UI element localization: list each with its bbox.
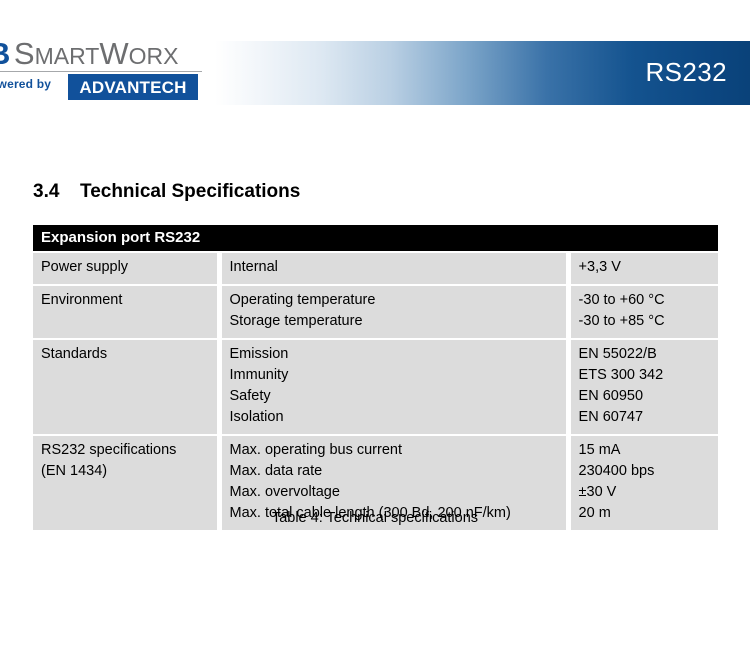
cell-line: ±30 V — [579, 482, 712, 503]
cell-line: Max. data rate — [230, 461, 560, 482]
cell-value: +3,3 V — [571, 251, 718, 284]
header-title: RS232 — [646, 59, 728, 85]
table-body: Power supplyInternal+3,3 VEnvironmentOpe… — [33, 251, 718, 530]
brand-smartworx-text: SMARTWORX — [14, 36, 179, 71]
cell-description: Operating temperatureStorage temperature — [222, 284, 571, 338]
cell-line: Environment — [41, 290, 211, 311]
cell-line: (EN 1434) — [41, 461, 211, 482]
brand-bb-text: B — [0, 36, 10, 71]
cell-line: EN 60950 — [579, 386, 712, 407]
advantech-logo-badge: ADVANTECH — [68, 74, 198, 100]
table-head: Expansion port RS232 — [33, 225, 718, 251]
cell-lines: Power supply — [41, 257, 211, 278]
cell-lines: Internal — [230, 257, 560, 278]
section-title: Technical Specifications — [80, 181, 300, 202]
table-header-title: Expansion port RS232 — [33, 225, 718, 251]
cell-line: EN 55022/B — [579, 344, 712, 365]
cell-line: Immunity — [230, 365, 560, 386]
cell-line: 15 mA — [579, 440, 712, 461]
cell-lines: Standards — [41, 344, 211, 365]
technical-specifications-table: Expansion port RS232 Power supplyInterna… — [33, 225, 718, 530]
brand-wordmark: BSMARTWORX — [0, 38, 178, 69]
brand-logo: BSMARTWORX owered by ADVANTECH — [0, 38, 214, 100]
cell-value: EN 55022/BETS 300 342EN 60950EN 60747 — [571, 338, 718, 434]
table-row: StandardsEmissionImmunitySafetyIsolation… — [33, 338, 718, 434]
advantech-logo-text: ADVANTECH — [79, 79, 186, 96]
cell-parameter: Standards — [33, 338, 222, 434]
cell-lines: Operating temperatureStorage temperature — [230, 290, 560, 332]
brand-divider-rule — [0, 71, 202, 72]
cell-line: ETS 300 342 — [579, 365, 712, 386]
cell-lines: EmissionImmunitySafetyIsolation — [230, 344, 560, 428]
cell-lines: RS232 specifications(EN 1434) — [41, 440, 211, 482]
cell-description: Internal — [222, 251, 571, 284]
cell-line: Emission — [230, 344, 560, 365]
table-header-row: Expansion port RS232 — [33, 225, 718, 251]
cell-line: Operating temperature — [230, 290, 560, 311]
cell-parameter: Environment — [33, 284, 222, 338]
cell-line: Power supply — [41, 257, 211, 278]
cell-line: Safety — [230, 386, 560, 407]
cell-lines: +3,3 V — [579, 257, 712, 278]
cell-line: -30 to +85 °C — [579, 311, 712, 332]
cell-line: Max. operating bus current — [230, 440, 560, 461]
section-number: 3.4 — [33, 182, 80, 201]
cell-line: Isolation — [230, 407, 560, 428]
cell-value: -30 to +60 °C-30 to +85 °C — [571, 284, 718, 338]
cell-line: 230400 bps — [579, 461, 712, 482]
cell-line: EN 60747 — [579, 407, 712, 428]
cell-line: -30 to +60 °C — [579, 290, 712, 311]
table-row: EnvironmentOperating temperatureStorage … — [33, 284, 718, 338]
cell-line: Standards — [41, 344, 211, 365]
cell-lines: Environment — [41, 290, 211, 311]
cell-line: Internal — [230, 257, 560, 278]
table-row: Power supplyInternal+3,3 V — [33, 251, 718, 284]
cell-lines: EN 55022/BETS 300 342EN 60950EN 60747 — [579, 344, 712, 428]
cell-line: +3,3 V — [579, 257, 712, 278]
page-header: BSMARTWORX owered by ADVANTECH RS232 — [0, 0, 750, 120]
cell-description: EmissionImmunitySafetyIsolation — [222, 338, 571, 434]
cell-line: Max. overvoltage — [230, 482, 560, 503]
cell-line: RS232 specifications — [41, 440, 211, 461]
cell-line: Storage temperature — [230, 311, 560, 332]
brand-powered-by-text: owered by — [0, 77, 51, 91]
table-caption: Table 4: Technical specifications — [0, 510, 750, 526]
cell-parameter: Power supply — [33, 251, 222, 284]
cell-lines: -30 to +60 °C-30 to +85 °C — [579, 290, 712, 332]
page-title: 3.4Technical Specifications — [33, 182, 300, 201]
